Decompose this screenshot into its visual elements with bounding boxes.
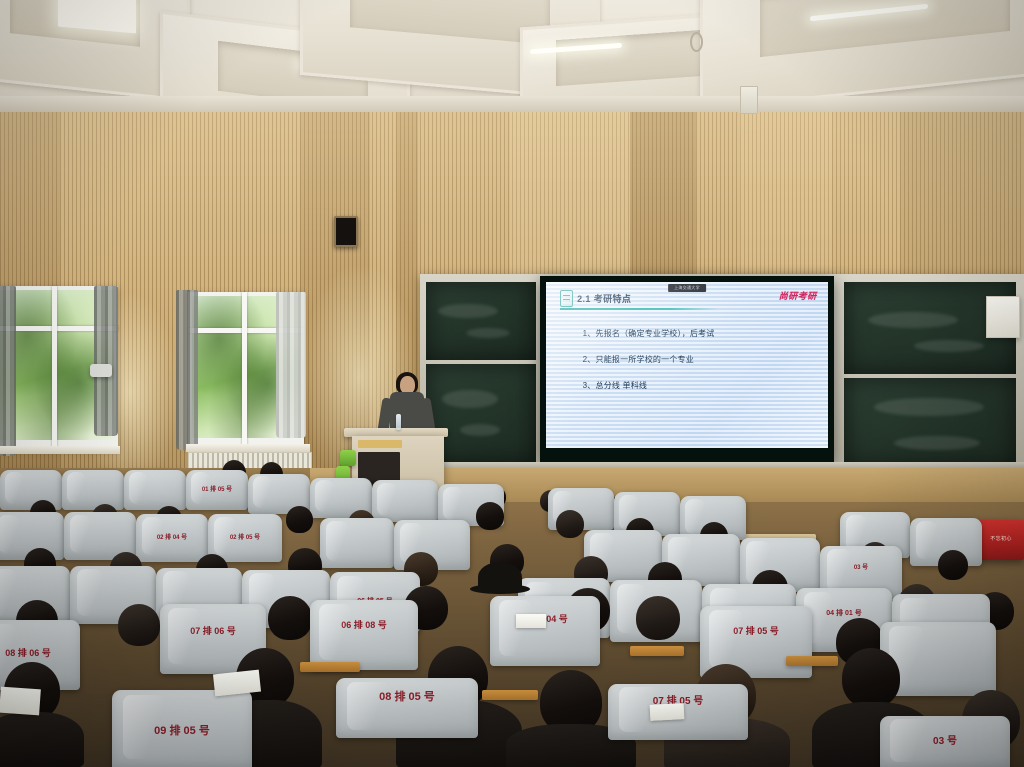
window-curtain <box>0 286 16 456</box>
student-head <box>476 502 504 530</box>
slide-title-group: 2.1 考研特点 <box>560 290 631 307</box>
ceiling <box>0 0 1024 118</box>
seat <box>62 470 124 510</box>
seat-label: 02 排 04 号 <box>136 532 208 541</box>
wall-box <box>740 86 758 114</box>
window-mullion <box>52 286 57 450</box>
student-head <box>938 550 968 580</box>
slide-bullet: 1、先报名（确定专业学校），后考试 <box>583 328 811 339</box>
seat-label: 08 排 05 号 <box>336 688 478 704</box>
ceiling-projector-icon <box>90 364 112 377</box>
projection-screen: 上海交通大学 2.1 考研特点 尚研考研 1、先报名（确定专业学校），后考试 2… <box>540 276 834 462</box>
seat-label: 07 排 06 号 <box>160 624 266 637</box>
chalk-mark <box>466 328 510 338</box>
window-sill <box>186 444 310 452</box>
lecture-hall-photo: 上海交通大学 2.1 考研特点 尚研考研 1、先报名（确定专业学校），后考试 2… <box>0 0 1024 767</box>
seat-label: 07 排 05 号 <box>700 624 812 637</box>
seat: 01 排 05 号 <box>186 470 248 510</box>
blackboard-left-upper <box>426 282 536 360</box>
seat: 03 号 <box>880 716 1010 767</box>
green-chair <box>340 450 356 466</box>
slide-bullet: 2、只能报一所学校的一个专业 <box>583 354 811 365</box>
student-head <box>118 604 160 646</box>
window-curtain <box>176 290 198 450</box>
window-sill <box>0 446 120 454</box>
chalk-mark <box>442 390 498 408</box>
chalk-mark <box>460 424 500 436</box>
seat: 08 排 05 号 <box>336 678 478 738</box>
student-head <box>556 510 584 538</box>
slide-logo-mark-icon <box>560 290 573 307</box>
seat <box>372 480 438 522</box>
slide-title: 2.1 考研特点 <box>577 292 631 305</box>
seat-label: 06 排 08 号 <box>310 618 418 631</box>
water-bottle <box>396 414 401 430</box>
red-signage-text: 不忘初心 <box>978 535 1024 542</box>
seat-label: 08 排 06 号 <box>0 646 80 659</box>
chalk-mark <box>894 436 980 450</box>
chalk-mark <box>914 340 984 352</box>
blackboard-right-lower <box>844 378 1016 466</box>
seat <box>124 470 186 510</box>
window-curtain <box>94 286 118 436</box>
seat-label: 09 排 05 号 <box>112 722 252 738</box>
notebook-paper <box>516 614 546 628</box>
chalk-mark <box>868 312 958 328</box>
red-signage-box: 不忘初心 <box>978 520 1024 560</box>
podium-wood-trim <box>358 440 402 448</box>
seat: 02 排 04 号 <box>136 514 208 562</box>
slide-bullet-list: 1、先报名（确定专业学校），后考试 2、只能报一所学校的一个专业 3、总分线 单… <box>583 328 811 406</box>
seat-label: 03 号 <box>880 732 1010 747</box>
desk-tablet <box>482 690 538 700</box>
chalk-mark <box>874 398 984 416</box>
seat-label: 01 排 05 号 <box>186 484 248 493</box>
student-head <box>636 596 680 640</box>
student-head <box>268 596 312 640</box>
notebook-paper <box>650 703 685 721</box>
desk-tablet <box>630 646 684 656</box>
seat: 06 排 08 号 <box>310 600 418 670</box>
slide-bullet: 3、总分线 单科线 <box>583 380 811 391</box>
seat-label: 02 排 05 号 <box>208 532 282 541</box>
window-mullion <box>242 292 247 448</box>
seat <box>320 518 394 568</box>
wall-speaker-icon <box>334 216 358 247</box>
ceiling-hook-ring <box>690 32 703 52</box>
seat: 03 排 04 号 <box>490 596 600 666</box>
baseball-cap <box>478 562 522 592</box>
seat: 09 排 05 号 <box>112 690 252 767</box>
desk-tablet <box>300 662 360 672</box>
student-shoulders <box>0 712 84 767</box>
student-head <box>286 506 313 533</box>
slide-brand-logo: 尚研考研 <box>779 289 817 302</box>
presentation-slide: 上海交通大学 2.1 考研特点 尚研考研 1、先报名（确定专业学校），后考试 2… <box>546 282 828 448</box>
slide-badge: 上海交通大学 <box>668 284 706 292</box>
notebook-paper <box>0 687 41 716</box>
chalk-mark <box>438 304 498 318</box>
wall-notice-board <box>986 296 1020 338</box>
seat-label: 03 号 <box>820 562 902 571</box>
slide-title-underline <box>560 308 718 310</box>
desk-tablet <box>786 656 838 666</box>
student-head <box>842 648 900 708</box>
window-curtain <box>276 292 306 438</box>
